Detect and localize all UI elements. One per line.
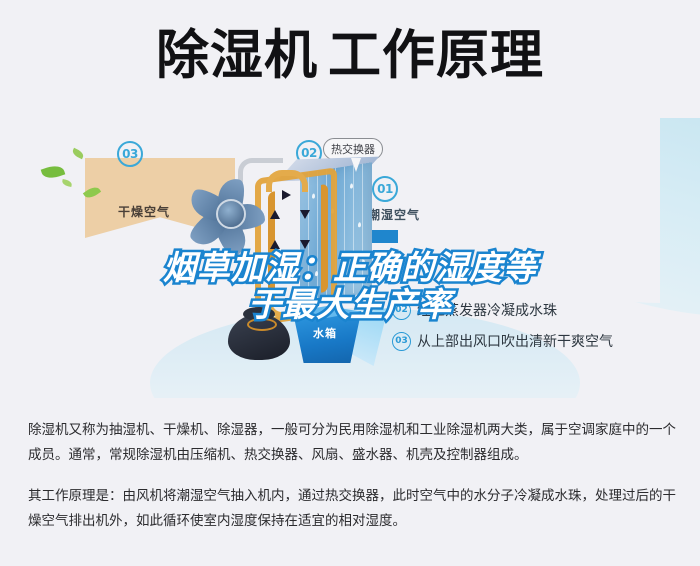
step-text: 从上部出风口吹出清新干爽空气 bbox=[417, 331, 613, 351]
flow-arrow-icon bbox=[300, 210, 310, 219]
humid-air-label: 潮湿空气 bbox=[368, 206, 420, 223]
list-item: 02 经过蒸发器冷凝成水珠 bbox=[392, 300, 692, 320]
diagram-badge-01: 01 bbox=[372, 176, 398, 202]
flow-arrow-icon bbox=[282, 190, 291, 200]
leaf-icon bbox=[71, 148, 85, 159]
dry-air-label: 干燥空气 bbox=[118, 203, 170, 220]
body-paragraph-2: 其工作原理是：由风机将潮湿空气抽入机内，通过热交换器，此时空气中的水分子冷凝成水… bbox=[28, 484, 676, 534]
step-number-badge: 02 bbox=[392, 301, 411, 320]
background-swoosh-mask-icon bbox=[410, 118, 660, 303]
step-number-badge: 03 bbox=[392, 332, 411, 351]
water-tank-label: 水箱 bbox=[313, 325, 337, 341]
poster-root: 除湿机工作原理 干燥空气 03 02 01 热交换器 潮湿空气 bbox=[0, 0, 700, 566]
title-part-2: 工作原理 bbox=[328, 25, 544, 86]
article-body: 除湿机又称为抽湿机、干燥机、除湿器，一般可分为民用除湿机和工业除湿机两大类，属于… bbox=[28, 418, 676, 550]
page-title: 除湿机工作原理 bbox=[0, 28, 700, 84]
body-paragraph-1: 除湿机又称为抽湿机、干燥机、除湿器，一般可分为民用除湿机和工业除湿机两大类，属于… bbox=[28, 418, 676, 468]
title-text-group: 除湿机工作原理 bbox=[156, 28, 544, 84]
diagram-badge-03: 03 bbox=[117, 141, 143, 167]
list-item: 03 从上部出风口吹出清新干爽空气 bbox=[392, 331, 692, 351]
step-text: 经过蒸发器冷凝成水珠 bbox=[417, 300, 557, 320]
title-part-1: 除湿机 bbox=[156, 25, 318, 86]
leaf-icon bbox=[41, 163, 66, 181]
flow-arrow-icon bbox=[282, 270, 291, 280]
step-list: 02 经过蒸发器冷凝成水珠 03 从上部出风口吹出清新干爽空气 bbox=[392, 300, 692, 362]
leaf-icon bbox=[61, 179, 72, 187]
compressor-ring-icon bbox=[247, 318, 277, 331]
flow-arrow-icon bbox=[300, 240, 310, 249]
fan-icon bbox=[183, 166, 279, 262]
